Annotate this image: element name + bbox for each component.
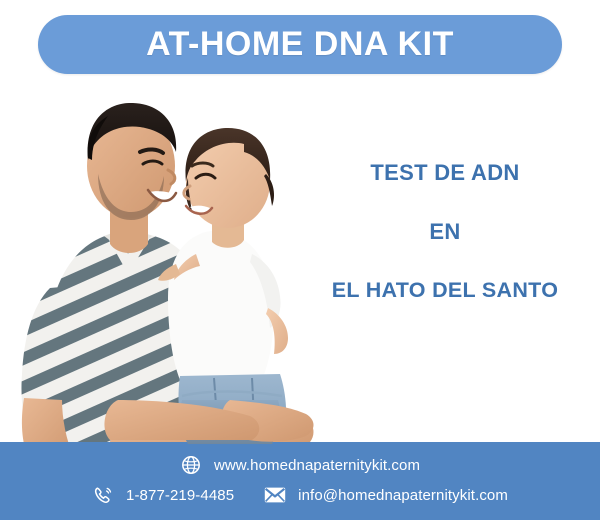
footer-website-label: www.homednapaternitykit.com <box>214 457 420 474</box>
envelope-icon <box>264 484 286 506</box>
poster-canvas: AT-HOME DNA KIT <box>0 0 600 520</box>
footer-email-label: info@homednapaternitykit.com <box>298 487 508 504</box>
family-photo <box>0 78 322 458</box>
header-banner: AT-HOME DNA KIT <box>38 15 562 74</box>
footer-row-phone-email: 1-877-219-4485 info@homednapaternitykit.… <box>0 484 600 506</box>
footer-email[interactable]: info@homednapaternitykit.com <box>264 484 508 506</box>
phone-icon <box>92 484 114 506</box>
footer-phone-label: 1-877-219-4485 <box>126 487 234 504</box>
globe-icon <box>180 454 202 476</box>
footer-contact-bar: www.homednapaternitykit.com 1-877-219-44… <box>0 442 600 520</box>
footer-website[interactable]: www.homednapaternitykit.com <box>180 454 420 476</box>
footer-row-website: www.homednapaternitykit.com <box>0 454 600 476</box>
headline-line-2: EN <box>300 219 590 245</box>
header-title: AT-HOME DNA KIT <box>146 25 454 64</box>
headline-line-3: EL HATO DEL SANTO <box>300 278 590 303</box>
headline-line-1: TEST DE ADN <box>300 160 590 186</box>
footer-phone[interactable]: 1-877-219-4485 <box>92 484 234 506</box>
headline-block: TEST DE ADN EN EL HATO DEL SANTO <box>300 160 590 303</box>
